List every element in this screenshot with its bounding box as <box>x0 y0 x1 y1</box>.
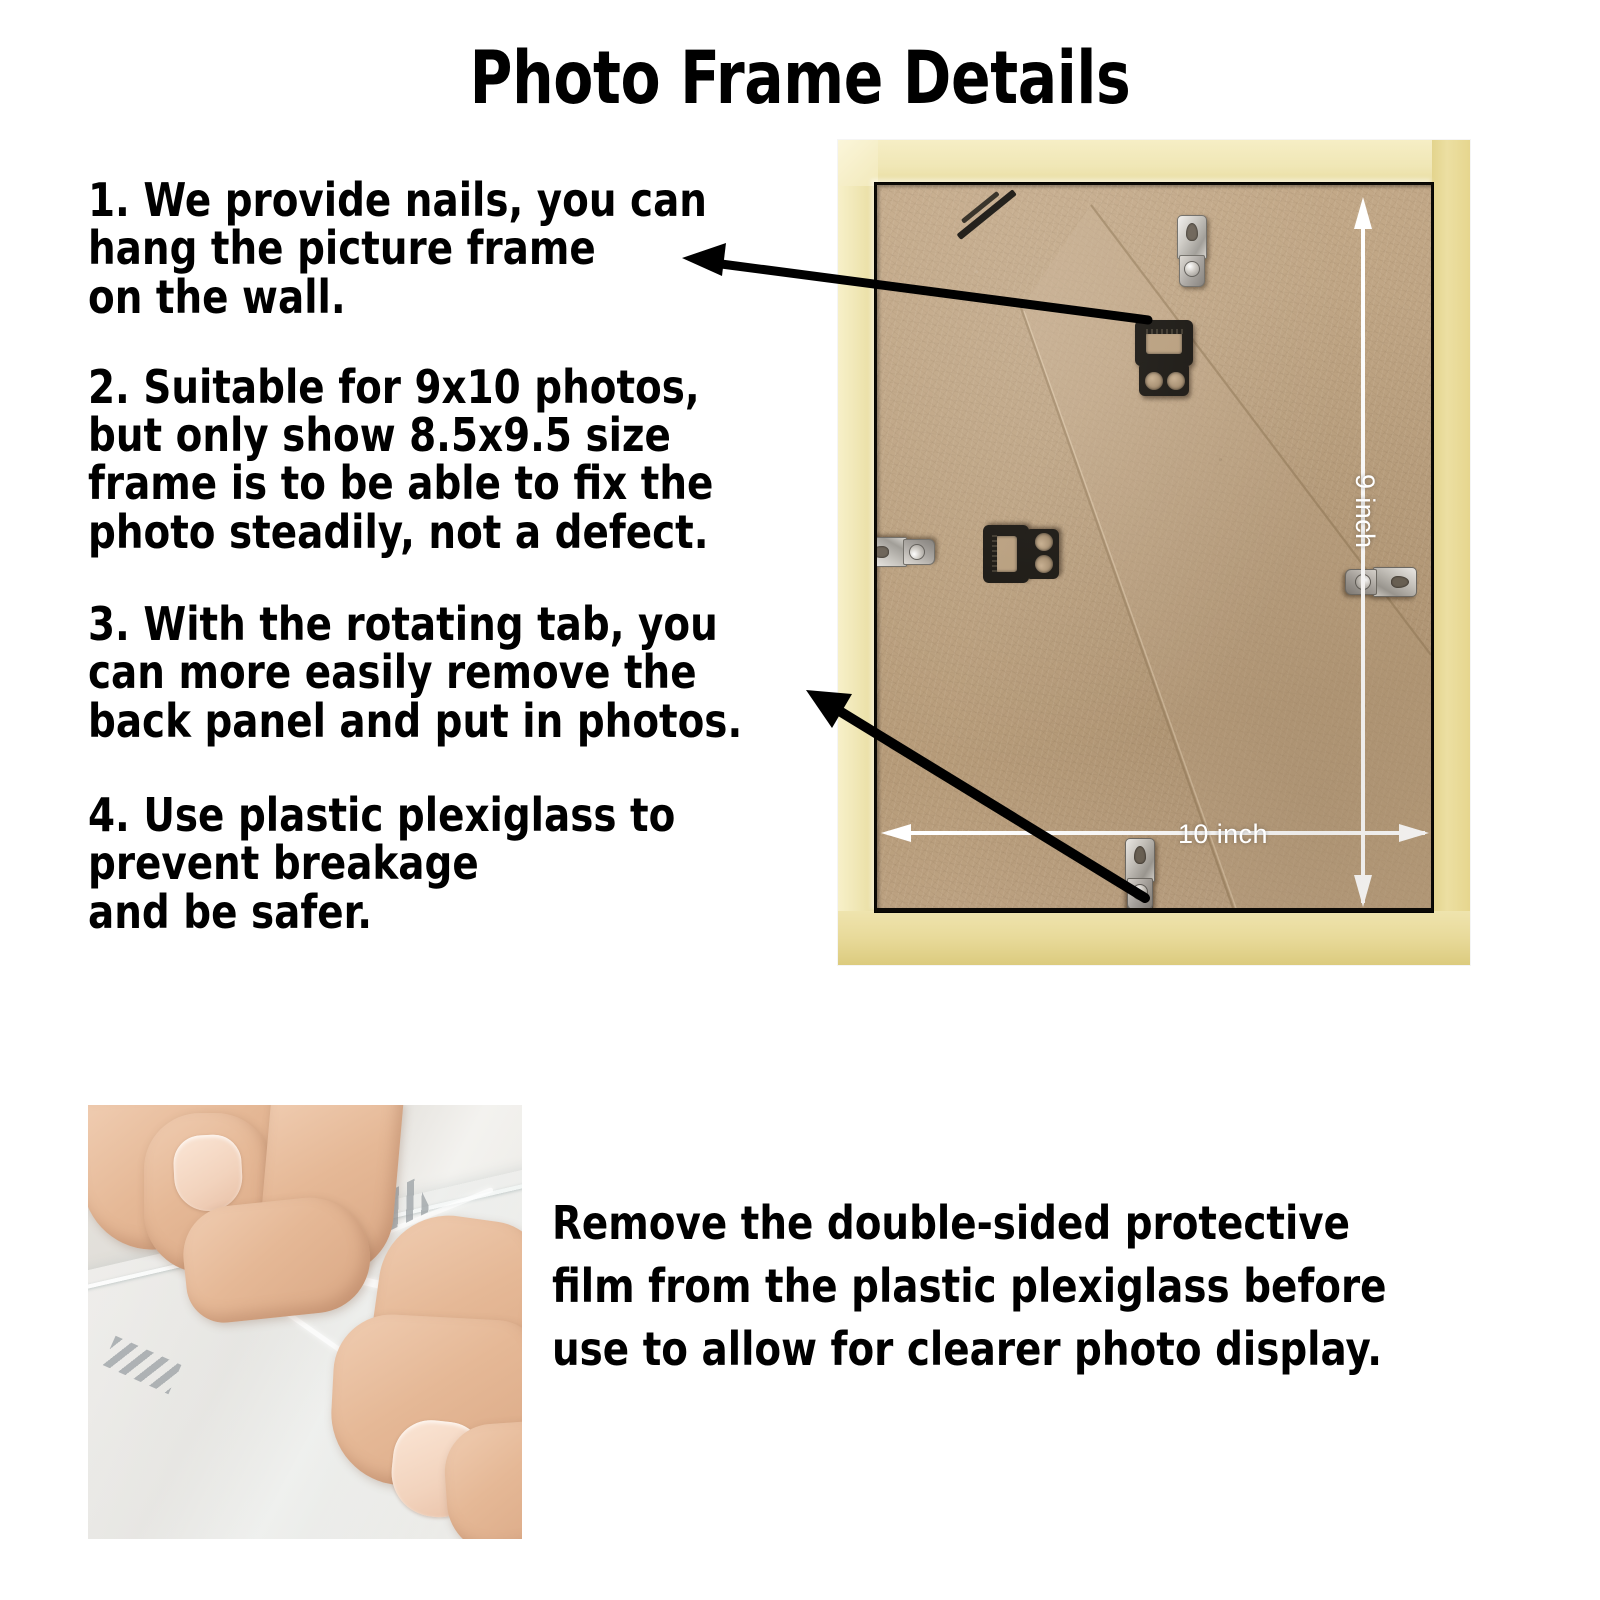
frame-moulding-bottom <box>838 911 1470 965</box>
instructions-list: 1. We provide nails, you can hang the pi… <box>88 176 828 936</box>
dimension-label-width: 10 inch <box>1178 819 1268 850</box>
instruction-1-line-2: hang the picture frame <box>88 224 827 272</box>
instruction-1-line-3: on the wall. <box>88 273 827 321</box>
bottom-note-line-3: use to allow for clearer photo display. <box>552 1318 1515 1381</box>
frame-moulding-top <box>838 140 1470 184</box>
instruction-item-3: 3. With the rotating tab, you can more e… <box>88 600 827 745</box>
frame-moulding-left <box>838 140 876 965</box>
plexiglass-edge-highlight-2 <box>88 1537 522 1539</box>
protective-film-photo <box>88 1105 522 1539</box>
frame-moulding-right <box>1432 140 1470 965</box>
infographic-page: Photo Frame Details 1. We provide nails,… <box>0 0 1600 1600</box>
frame-back-photo: 9 inch 10 inch <box>838 140 1470 965</box>
instruction-4-line-3: and be safer. <box>88 888 827 936</box>
bottom-note-line-1: Remove the double-sided protective <box>552 1192 1515 1255</box>
bottom-note-line-2: film from the plastic plexiglass before <box>552 1255 1515 1318</box>
page-title: Photo Frame Details <box>160 36 1440 121</box>
instruction-3-line-2: can more easily remove the <box>88 648 827 696</box>
dimension-label-height: 9 inch <box>1349 474 1380 548</box>
instruction-2-line-4: photo steadily, not a defect. <box>88 508 827 556</box>
instruction-item-2: 2. Suitable for 9x10 photos, but only sh… <box>88 363 827 556</box>
instruction-4-line-2: prevent breakage <box>88 839 827 887</box>
instruction-4-line-1: 4. Use plastic plexiglass to <box>88 791 827 839</box>
instruction-item-1: 1. We provide nails, you can hang the pi… <box>88 176 827 321</box>
instruction-2-line-1: 2. Suitable for 9x10 photos, <box>88 363 827 411</box>
instruction-item-4: 4. Use plastic plexiglass to prevent bre… <box>88 791 827 936</box>
instruction-1-line-1: 1. We provide nails, you can <box>88 176 827 224</box>
instruction-3-line-1: 3. With the rotating tab, you <box>88 600 827 648</box>
dimension-arrows <box>877 185 1431 908</box>
kraft-backing-board <box>877 185 1431 908</box>
instruction-2-line-3: frame is to be able to fix the <box>88 459 827 507</box>
bottom-note: Remove the double-sided protective film … <box>552 1192 1512 1381</box>
instruction-3-line-3: back panel and put in photos. <box>88 697 827 745</box>
frame-corner-highlight <box>838 140 878 186</box>
instruction-2-line-2: but only show 8.5x9.5 size <box>88 411 827 459</box>
